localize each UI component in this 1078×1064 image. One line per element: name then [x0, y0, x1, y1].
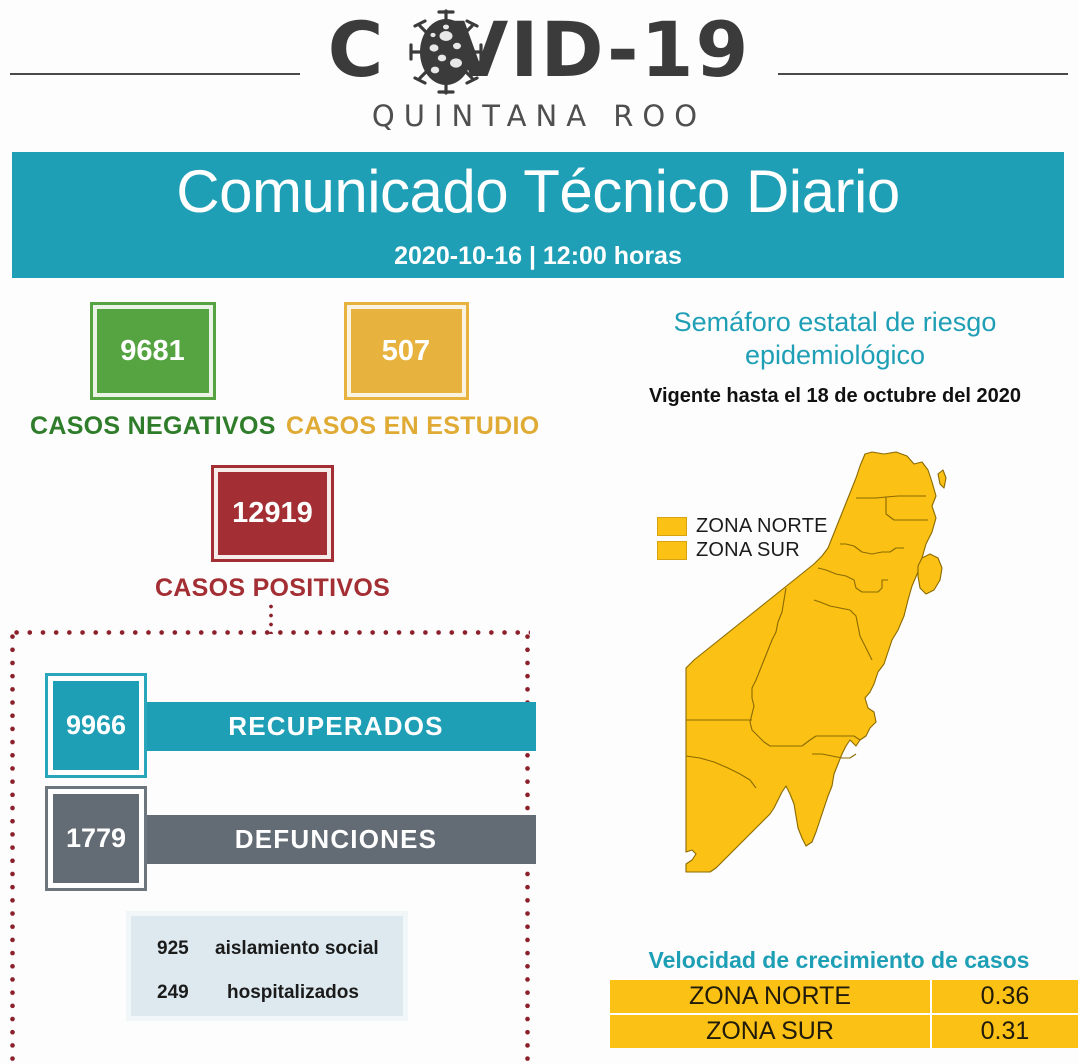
aislamiento-social-label: aislamiento social [215, 938, 379, 960]
map-island-cozumel [918, 554, 942, 594]
velocidad-table: ZONA NORTE 0.36 ZONA SUR 0.31 [610, 980, 1078, 1048]
defunciones-value: 1779 [48, 789, 144, 888]
legend-item-zona-norte: ZONA NORTE [657, 515, 828, 537]
semaforo-valid-until: Vigente hasta el 18 de octubre del 2020 [600, 385, 1070, 408]
casos-en-estudio-label: CASOS EN ESTUDIO [286, 412, 526, 441]
recuperados-label: RECUPERADOS [136, 702, 536, 751]
table-row: ZONA SUR 0.31 [610, 1015, 1078, 1048]
hospitalizados-label: hospitalizados [227, 982, 359, 1004]
coronavirus-icon [404, 6, 488, 98]
defunciones-label: DEFUNCIONES [136, 815, 536, 864]
velocidad-value-sur: 0.31 [932, 1015, 1078, 1048]
stat-recuperados: RECUPERADOS 9966 [48, 676, 488, 783]
table-row: ZONA NORTE 0.36 [610, 980, 1078, 1015]
legend-label-zona-norte: ZONA NORTE [696, 515, 828, 538]
banner-title: Comunicado Técnico Diario [12, 160, 1064, 223]
casos-positivos-value: 12919 [214, 468, 331, 559]
semaforo-title: Semáforo estatal de riesgo epidemiológic… [600, 306, 1070, 372]
hospitalizados-value: 249 [157, 982, 189, 1004]
legend-swatch-icon-sur [657, 541, 687, 560]
banner-timestamp: 2020-10-16 | 12:00 horas [12, 242, 1064, 271]
dotted-border-top [10, 630, 530, 635]
stat-casos-negativos: 9681 CASOS NEGATIVOS [30, 305, 275, 441]
quintana-roo-map-svg [660, 440, 970, 910]
velocidad-zone-norte: ZONA NORTE [610, 980, 932, 1013]
recuperados-value: 9966 [48, 676, 144, 775]
casos-en-estudio-value: 507 [347, 305, 466, 397]
stat-defunciones: DEFUNCIONES 1779 [48, 789, 488, 896]
map-island-isla-mujeres [938, 470, 946, 488]
velocidad-zone-sur: ZONA SUR [610, 1015, 932, 1048]
map-legend: ZONA NORTE ZONA SUR [657, 515, 828, 563]
covid-wordmark: CVID-19 [0, 12, 1078, 88]
stat-casos-positivos: 12919 CASOS POSITIVOS [150, 468, 395, 603]
banner: Comunicado Técnico Diario 2020-10-16 | 1… [12, 152, 1064, 278]
quintana-roo-map [660, 440, 970, 910]
velocidad-value-norte: 0.36 [932, 980, 1078, 1013]
velocidad-title: Velocidad de crecimiento de casos [600, 947, 1078, 974]
logo-header: CVID-19 [0, 0, 1078, 150]
covid-wordmark-post: VID-19 [449, 5, 750, 94]
casos-negativos-value: 9681 [93, 305, 213, 397]
covid-wordmark-pre: C [328, 5, 386, 94]
stat-casos-en-estudio: 507 CASOS EN ESTUDIO [286, 305, 526, 441]
legend-swatch-icon-norte [657, 517, 687, 536]
legend-item-zona-sur: ZONA SUR [657, 539, 828, 561]
aislamiento-social-value: 925 [157, 938, 189, 960]
infographic-page: CVID-19 [0, 0, 1078, 1064]
state-subtitle: QUINTANA ROO [0, 99, 1078, 133]
dotted-border-left [10, 630, 15, 1064]
detalle-box: 925 aislamiento social 249 hospitalizado… [126, 911, 408, 1021]
casos-positivos-label: CASOS POSITIVOS [150, 574, 395, 603]
casos-negativos-label: CASOS NEGATIVOS [30, 412, 275, 441]
legend-label-zona-sur: ZONA SUR [696, 539, 800, 562]
